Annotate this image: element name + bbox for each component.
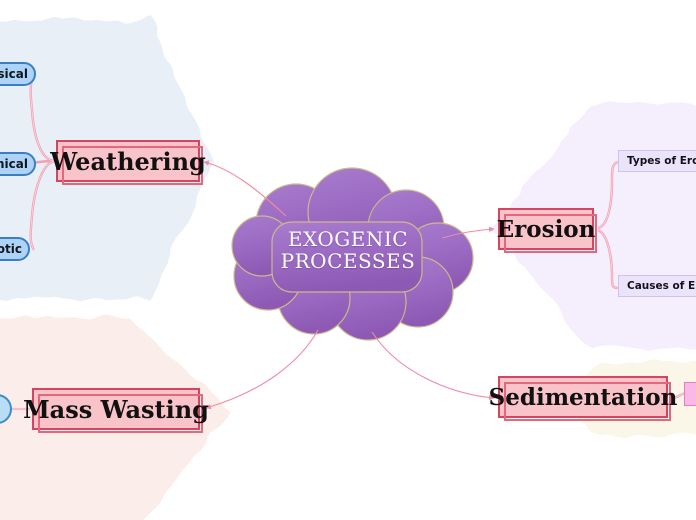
- branch-node-mass-wasting[interactable]: Mass Wasting: [32, 388, 200, 430]
- mindmap-canvas[interactable]: EXOGENIC PROCESSES Weathering Erosion Ma…: [0, 0, 696, 520]
- branch-node-erosion-label: Erosion: [491, 216, 602, 243]
- branch-node-weathering[interactable]: Weathering: [56, 140, 200, 182]
- sub-node-biotic-label: Biotic: [0, 242, 28, 256]
- branch-node-sedimentation-label: Sedimentation: [483, 384, 684, 411]
- sub-node-types-of-erosion-label: Types of Erosion: [619, 155, 696, 167]
- branch-node-weathering-label: Weathering: [44, 147, 212, 176]
- center-node-label: EXOGENIC PROCESSES: [281, 228, 416, 273]
- sub-node-causes-of-erosion[interactable]: Causes of Erosion: [618, 275, 696, 297]
- center-node[interactable]: EXOGENIC PROCESSES: [243, 190, 453, 310]
- sub-node-sedimentation-child[interactable]: [684, 382, 696, 406]
- sub-node-types-of-erosion[interactable]: Types of Erosion: [618, 150, 696, 172]
- branch-node-erosion[interactable]: Erosion: [498, 208, 594, 250]
- branch-node-mass-wasting-label: Mass Wasting: [17, 395, 215, 424]
- sub-node-physical[interactable]: Physical: [0, 62, 36, 86]
- branch-node-sedimentation[interactable]: Sedimentation: [498, 376, 668, 418]
- sub-node-chemical-label: Chemical: [0, 157, 34, 171]
- sub-node-chemical[interactable]: Chemical: [0, 152, 36, 176]
- sub-node-biotic[interactable]: Biotic: [0, 237, 30, 261]
- sub-node-causes-of-erosion-label: Causes of Erosion: [619, 280, 696, 292]
- sub-node-physical-label: Physical: [0, 67, 34, 81]
